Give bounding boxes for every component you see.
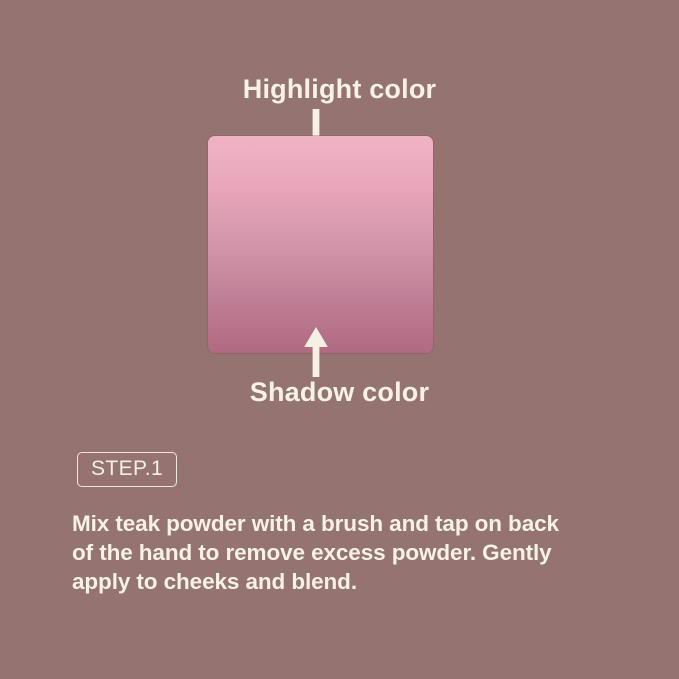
instruction-line: Mix teak powder with a brush and tap on … — [72, 509, 620, 538]
product-instruction-card: Highlight color Shadow color STEP.1 Mix … — [0, 0, 679, 679]
blush-gradient-swatch — [208, 136, 433, 353]
instruction-line: apply to cheeks and blend. — [72, 567, 620, 596]
shadow-color-label: Shadow color — [0, 375, 679, 409]
step-badge: STEP.1 — [77, 452, 177, 487]
instruction-line: of the hand to remove excess powder. Gen… — [72, 538, 620, 567]
color-swatch-diagram: Highlight color Shadow color — [0, 0, 679, 430]
arrow-up-icon — [299, 325, 333, 377]
step-instruction-text: Mix teak powder with a brush and tap on … — [72, 509, 620, 596]
highlight-color-label: Highlight color — [0, 72, 679, 106]
